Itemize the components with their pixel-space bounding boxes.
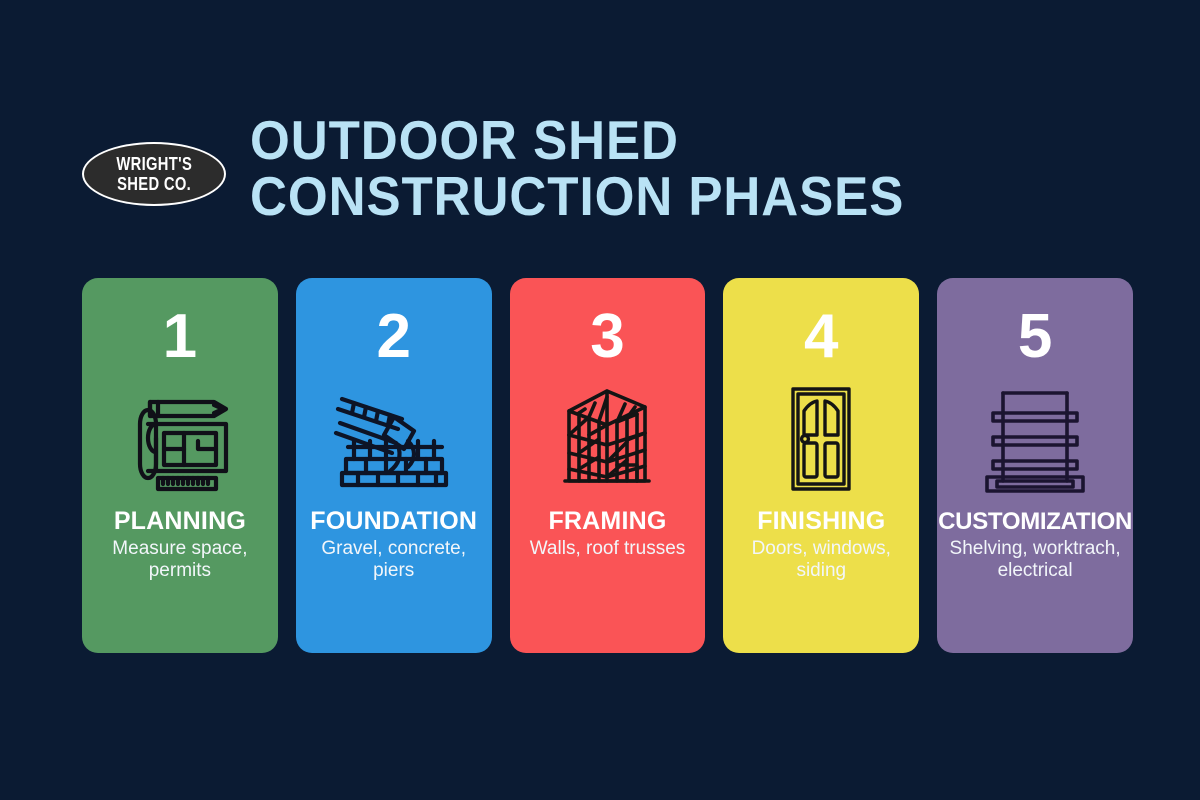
phase-description: Walls, roof trusses xyxy=(522,538,694,560)
phase-card-customization[interactable]: 5 CUSTOMIZATION Shelving xyxy=(937,278,1133,653)
phase-description: Measure space, permits xyxy=(85,538,275,582)
logo-text: WRIGHT'S SHED CO. xyxy=(82,142,226,206)
panel-door-icon xyxy=(756,380,886,498)
page-title-line-2: CONSTRUCTION PHASES xyxy=(250,168,1080,224)
shelving-unit-icon xyxy=(970,380,1100,498)
phase-title: PLANNING xyxy=(114,508,246,535)
phase-card-planning[interactable]: 1 xyxy=(82,278,278,653)
phase-card-foundation[interactable]: 2 xyxy=(296,278,492,653)
wrights-shed-co-logo: WRIGHT'S SHED CO. xyxy=(82,142,226,206)
phase-title: FRAMING xyxy=(548,508,666,535)
logo-line-1: WRIGHT'S xyxy=(116,155,192,174)
phase-title: FOUNDATION xyxy=(310,508,477,535)
phase-title: FINISHING xyxy=(757,508,885,535)
infographic-page: WRIGHT'S SHED CO. OUTDOOR SHED CONSTRUCT… xyxy=(0,0,1200,800)
phase-number: 4 xyxy=(804,306,838,368)
phase-description: Doors, windows, siding xyxy=(726,538,916,582)
header: WRIGHT'S SHED CO. OUTDOOR SHED CONSTRUCT… xyxy=(82,108,1142,226)
phase-number: 2 xyxy=(376,306,410,368)
concrete-pour-brick-foundation-icon xyxy=(329,380,459,498)
logo-line-2: SHED CO. xyxy=(117,175,191,194)
phase-number: 1 xyxy=(163,306,197,368)
phase-title: CUSTOMIZATION xyxy=(938,508,1132,535)
phase-number: 3 xyxy=(590,306,624,368)
phase-card-framing[interactable]: 3 xyxy=(510,278,706,653)
phase-description: Gravel, concrete, piers xyxy=(299,538,489,582)
phase-description: Shelving, worktrach, electrical xyxy=(940,538,1130,582)
blueprint-pencil-ruler-icon xyxy=(115,380,245,498)
phase-card-list: 1 xyxy=(82,278,1133,653)
page-title-line-1: OUTDOOR SHED xyxy=(250,112,1080,168)
timber-frame-structure-icon xyxy=(542,380,672,498)
phase-card-finishing[interactable]: 4 FINISHING Doors, windows, siding xyxy=(723,278,919,653)
phase-number: 5 xyxy=(1018,306,1052,368)
page-title: OUTDOOR SHED CONSTRUCTION PHASES xyxy=(250,112,1142,224)
